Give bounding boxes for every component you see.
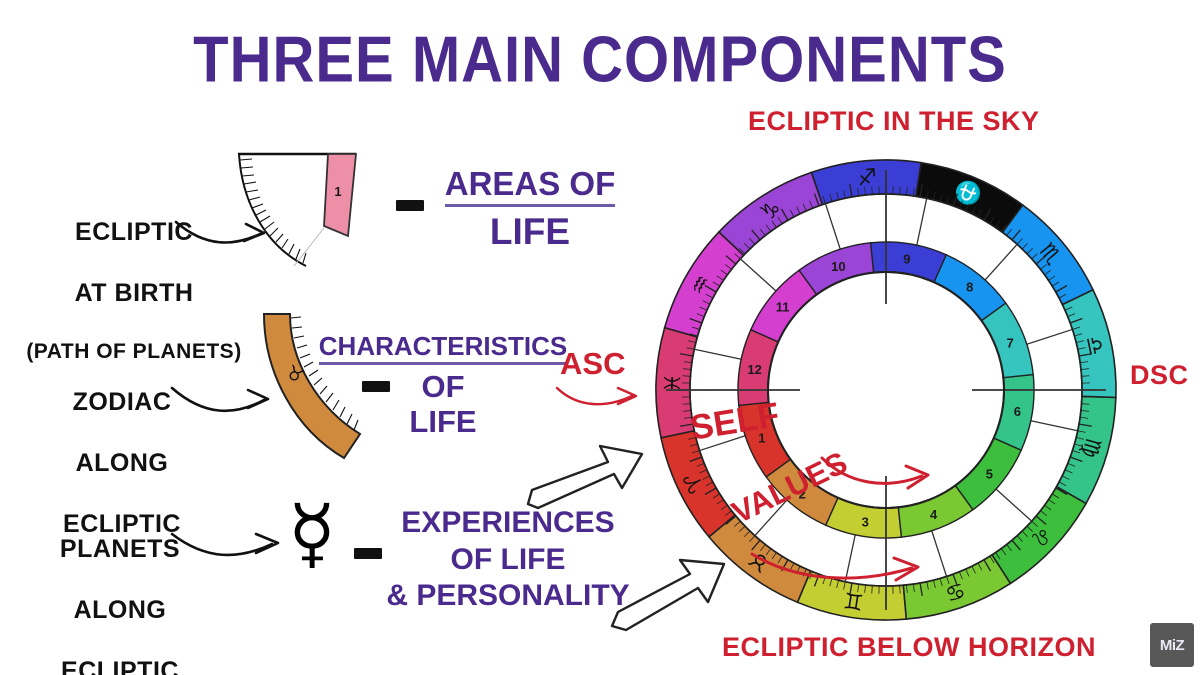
house-number-7: 7 <box>1007 335 1014 350</box>
row1-label-line2: AT BIRTH <box>20 278 248 309</box>
pointer-arrow-upper-icon <box>522 432 650 520</box>
astrology-wheel[interactable]: ♈♉♊♋♌♍♎♏⛎♐♑♒♓ 123456789101112 <box>636 140 1136 640</box>
house-number-6: 6 <box>1014 404 1021 419</box>
row3-result: EXPERIENCES OF LIFE & PERSONALITY <box>376 506 640 613</box>
row2-label-line2: ALONG <box>22 448 222 479</box>
row3-label-line3: ECLIPTIC <box>20 656 220 675</box>
row2-result-line2: OF <box>316 370 570 405</box>
zodiac-glyph-sagittarius: ♐ <box>856 165 878 192</box>
row1-equals-sign <box>396 200 424 211</box>
row1-arc-segment-label: 1 <box>334 184 341 199</box>
house-number-10: 10 <box>831 259 845 274</box>
row1-result: AREAS OF LIFE <box>430 166 630 252</box>
row1-result-line1: AREAS OF <box>445 166 616 207</box>
watermark-logo: MiZ <box>1150 623 1194 667</box>
row3-label-line2: ALONG <box>20 595 220 626</box>
row2-result-line1: CHARACTERISTICS <box>319 332 567 365</box>
asc-arrow-icon <box>554 382 640 414</box>
wheel-label-top: ECLIPTIC IN THE SKY <box>748 106 1040 137</box>
house-number-8: 8 <box>966 280 973 295</box>
house-number-5: 5 <box>986 467 993 482</box>
mercury-symbol: ☿ <box>288 495 336 573</box>
page-title: THREE MAIN COMPONENTS <box>0 22 1200 97</box>
house-number-12: 12 <box>747 362 761 377</box>
astrology-wheel-svg[interactable]: ♈♉♊♋♌♍♎♏⛎♐♑♒♓ 123456789101112 <box>636 140 1136 640</box>
slide-canvas: THREE MAIN COMPONENTS ECLIPTIC AT BIRTH … <box>0 0 1200 675</box>
row1-result-line2: LIFE <box>430 211 630 252</box>
dsc-label: DSC <box>1130 360 1189 391</box>
house-number-11: 11 <box>776 299 790 314</box>
row3-result-line2: OF LIFE <box>376 543 640 577</box>
row3-result-line3: & PERSONALITY <box>376 579 640 613</box>
house-number-3: 3 <box>862 514 869 529</box>
asc-label: ASC <box>560 346 625 382</box>
zodiac-glyph-gemini: ♊ <box>842 586 865 614</box>
house-number-4: 4 <box>930 507 938 522</box>
row1-houses-arc: 1 <box>228 148 364 270</box>
house-number-9: 9 <box>903 252 910 267</box>
row2-result: CHARACTERISTICS OF LIFE <box>316 332 570 440</box>
row3-arrow-icon <box>168 524 288 572</box>
